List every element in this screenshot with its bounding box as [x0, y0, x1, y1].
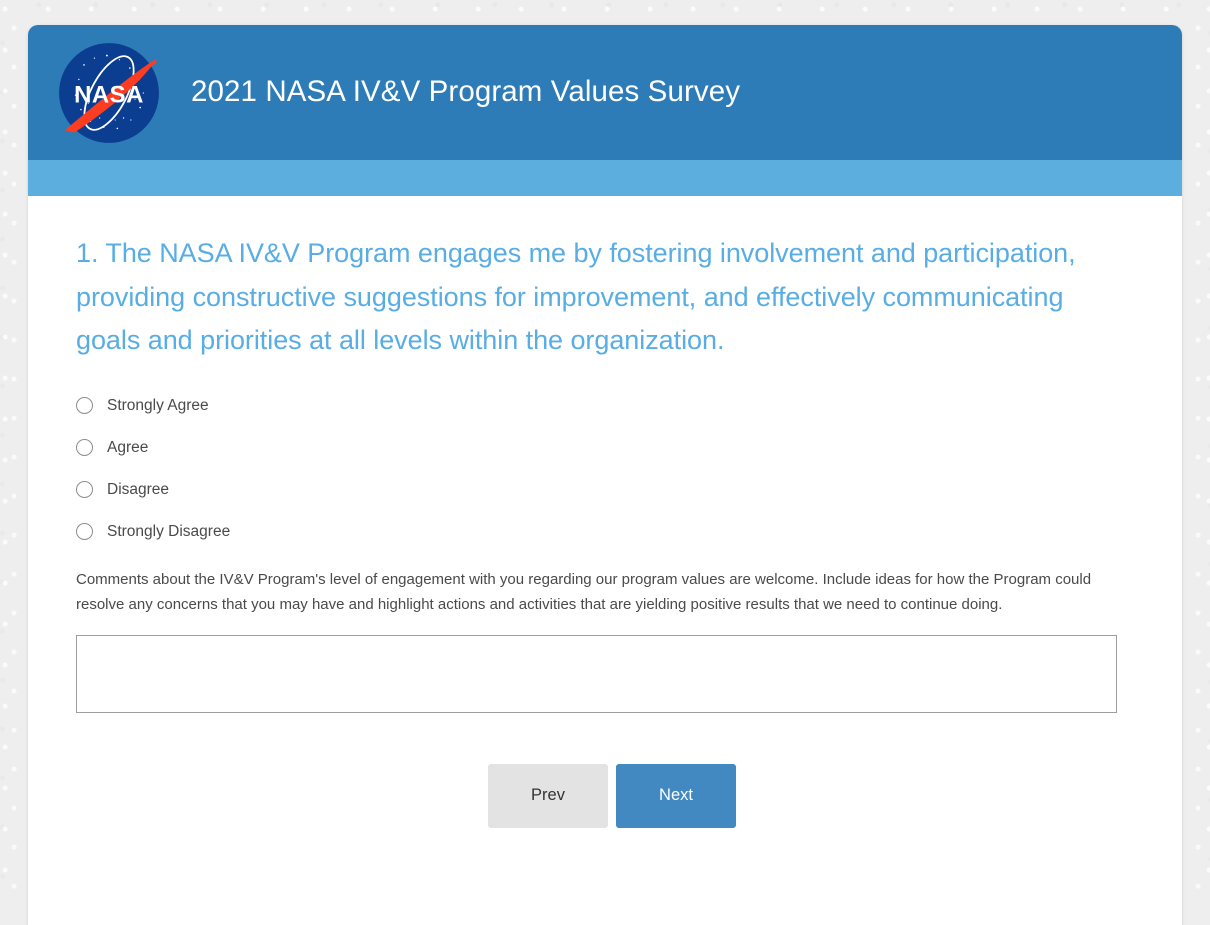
nasa-meatball-logo: NASA — [57, 41, 161, 145]
option-label-strongly-agree: Strongly Agree — [107, 398, 209, 414]
radio-agree[interactable] — [76, 439, 93, 456]
survey-body: 1. The NASA IV&V Program engages me by f… — [28, 196, 1182, 828]
radio-disagree[interactable] — [76, 481, 93, 498]
option-row-agree[interactable]: Agree — [76, 427, 1182, 469]
question-prompt: 1. The NASA IV&V Program engages me by f… — [28, 232, 1182, 363]
prev-button[interactable]: Prev — [488, 764, 608, 828]
answer-options-group: Strongly Agree Agree Disagree Strongly D… — [28, 385, 1182, 553]
option-label-strongly-disagree: Strongly Disagree — [107, 524, 230, 540]
survey-header: NASA 2021 NASA IV&V Program Values Surve… — [28, 25, 1182, 160]
radio-strongly-disagree[interactable] — [76, 523, 93, 540]
option-label-disagree: Disagree — [107, 482, 169, 498]
nasa-wordmark-text: NASA — [74, 81, 144, 108]
comments-textarea[interactable] — [76, 635, 1117, 713]
comments-field-wrapper — [28, 635, 1182, 713]
option-label-agree: Agree — [107, 440, 148, 456]
survey-card: NASA 2021 NASA IV&V Program Values Surve… — [28, 25, 1182, 925]
option-row-strongly-disagree[interactable]: Strongly Disagree — [76, 511, 1182, 553]
option-row-disagree[interactable]: Disagree — [76, 469, 1182, 511]
progress-band — [28, 160, 1182, 196]
next-button[interactable]: Next — [616, 764, 736, 828]
option-row-strongly-agree[interactable]: Strongly Agree — [76, 385, 1182, 427]
page-title: 2021 NASA IV&V Program Values Survey — [191, 76, 740, 108]
navigation-buttons: Prev Next — [28, 764, 1182, 828]
radio-strongly-agree[interactable] — [76, 397, 93, 414]
comments-prompt: Comments about the IV&V Program's level … — [76, 567, 1118, 618]
